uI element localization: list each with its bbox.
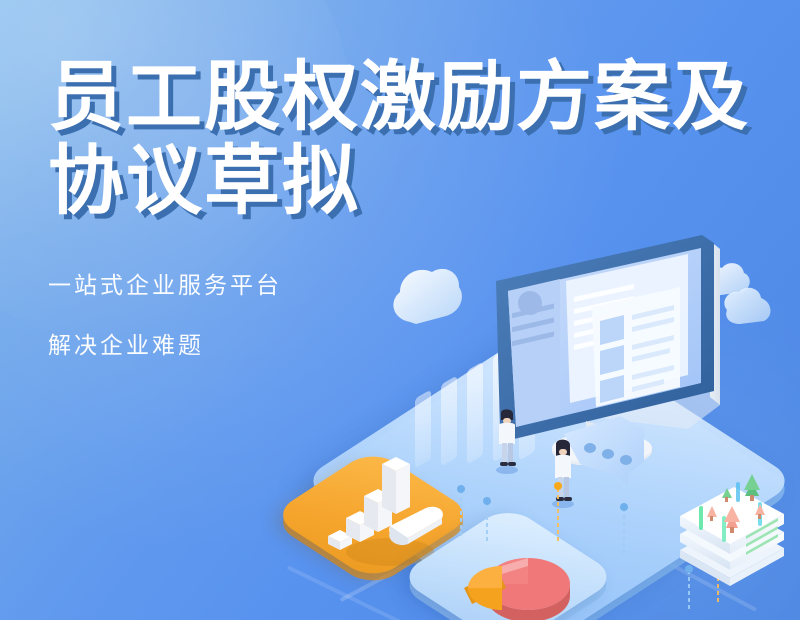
subtitle-secondary: 解决企业难题 bbox=[48, 326, 778, 360]
accent-dot-3 bbox=[554, 482, 562, 490]
subtitle-primary: 一站式企业服务平台 bbox=[48, 266, 778, 300]
person-male-icon bbox=[492, 408, 524, 479]
person-female-icon bbox=[548, 438, 580, 513]
accent-dotline-1 bbox=[460, 490, 462, 538]
page-title-line-2: 协议草拟 bbox=[48, 140, 778, 224]
accent-dotline-2 bbox=[486, 502, 488, 542]
page-title-line-1: 员工股权激励方案及 bbox=[48, 56, 778, 140]
accent-dotline-4 bbox=[623, 508, 625, 554]
accent-dot-4 bbox=[620, 503, 628, 511]
headline-block: 员工股权激励方案及 协议草拟 一站式企业服务平台 解决企业难题 bbox=[48, 56, 778, 360]
server-stack-icon bbox=[672, 466, 792, 586]
accent-dotline-3 bbox=[557, 488, 559, 544]
promo-banner: 员工股权激励方案及 协议草拟 一站式企业服务平台 解决企业难题 bbox=[0, 0, 800, 620]
pie-chart bbox=[448, 526, 598, 620]
accent-dot-1 bbox=[457, 485, 465, 493]
accent-dot-2 bbox=[483, 497, 491, 505]
